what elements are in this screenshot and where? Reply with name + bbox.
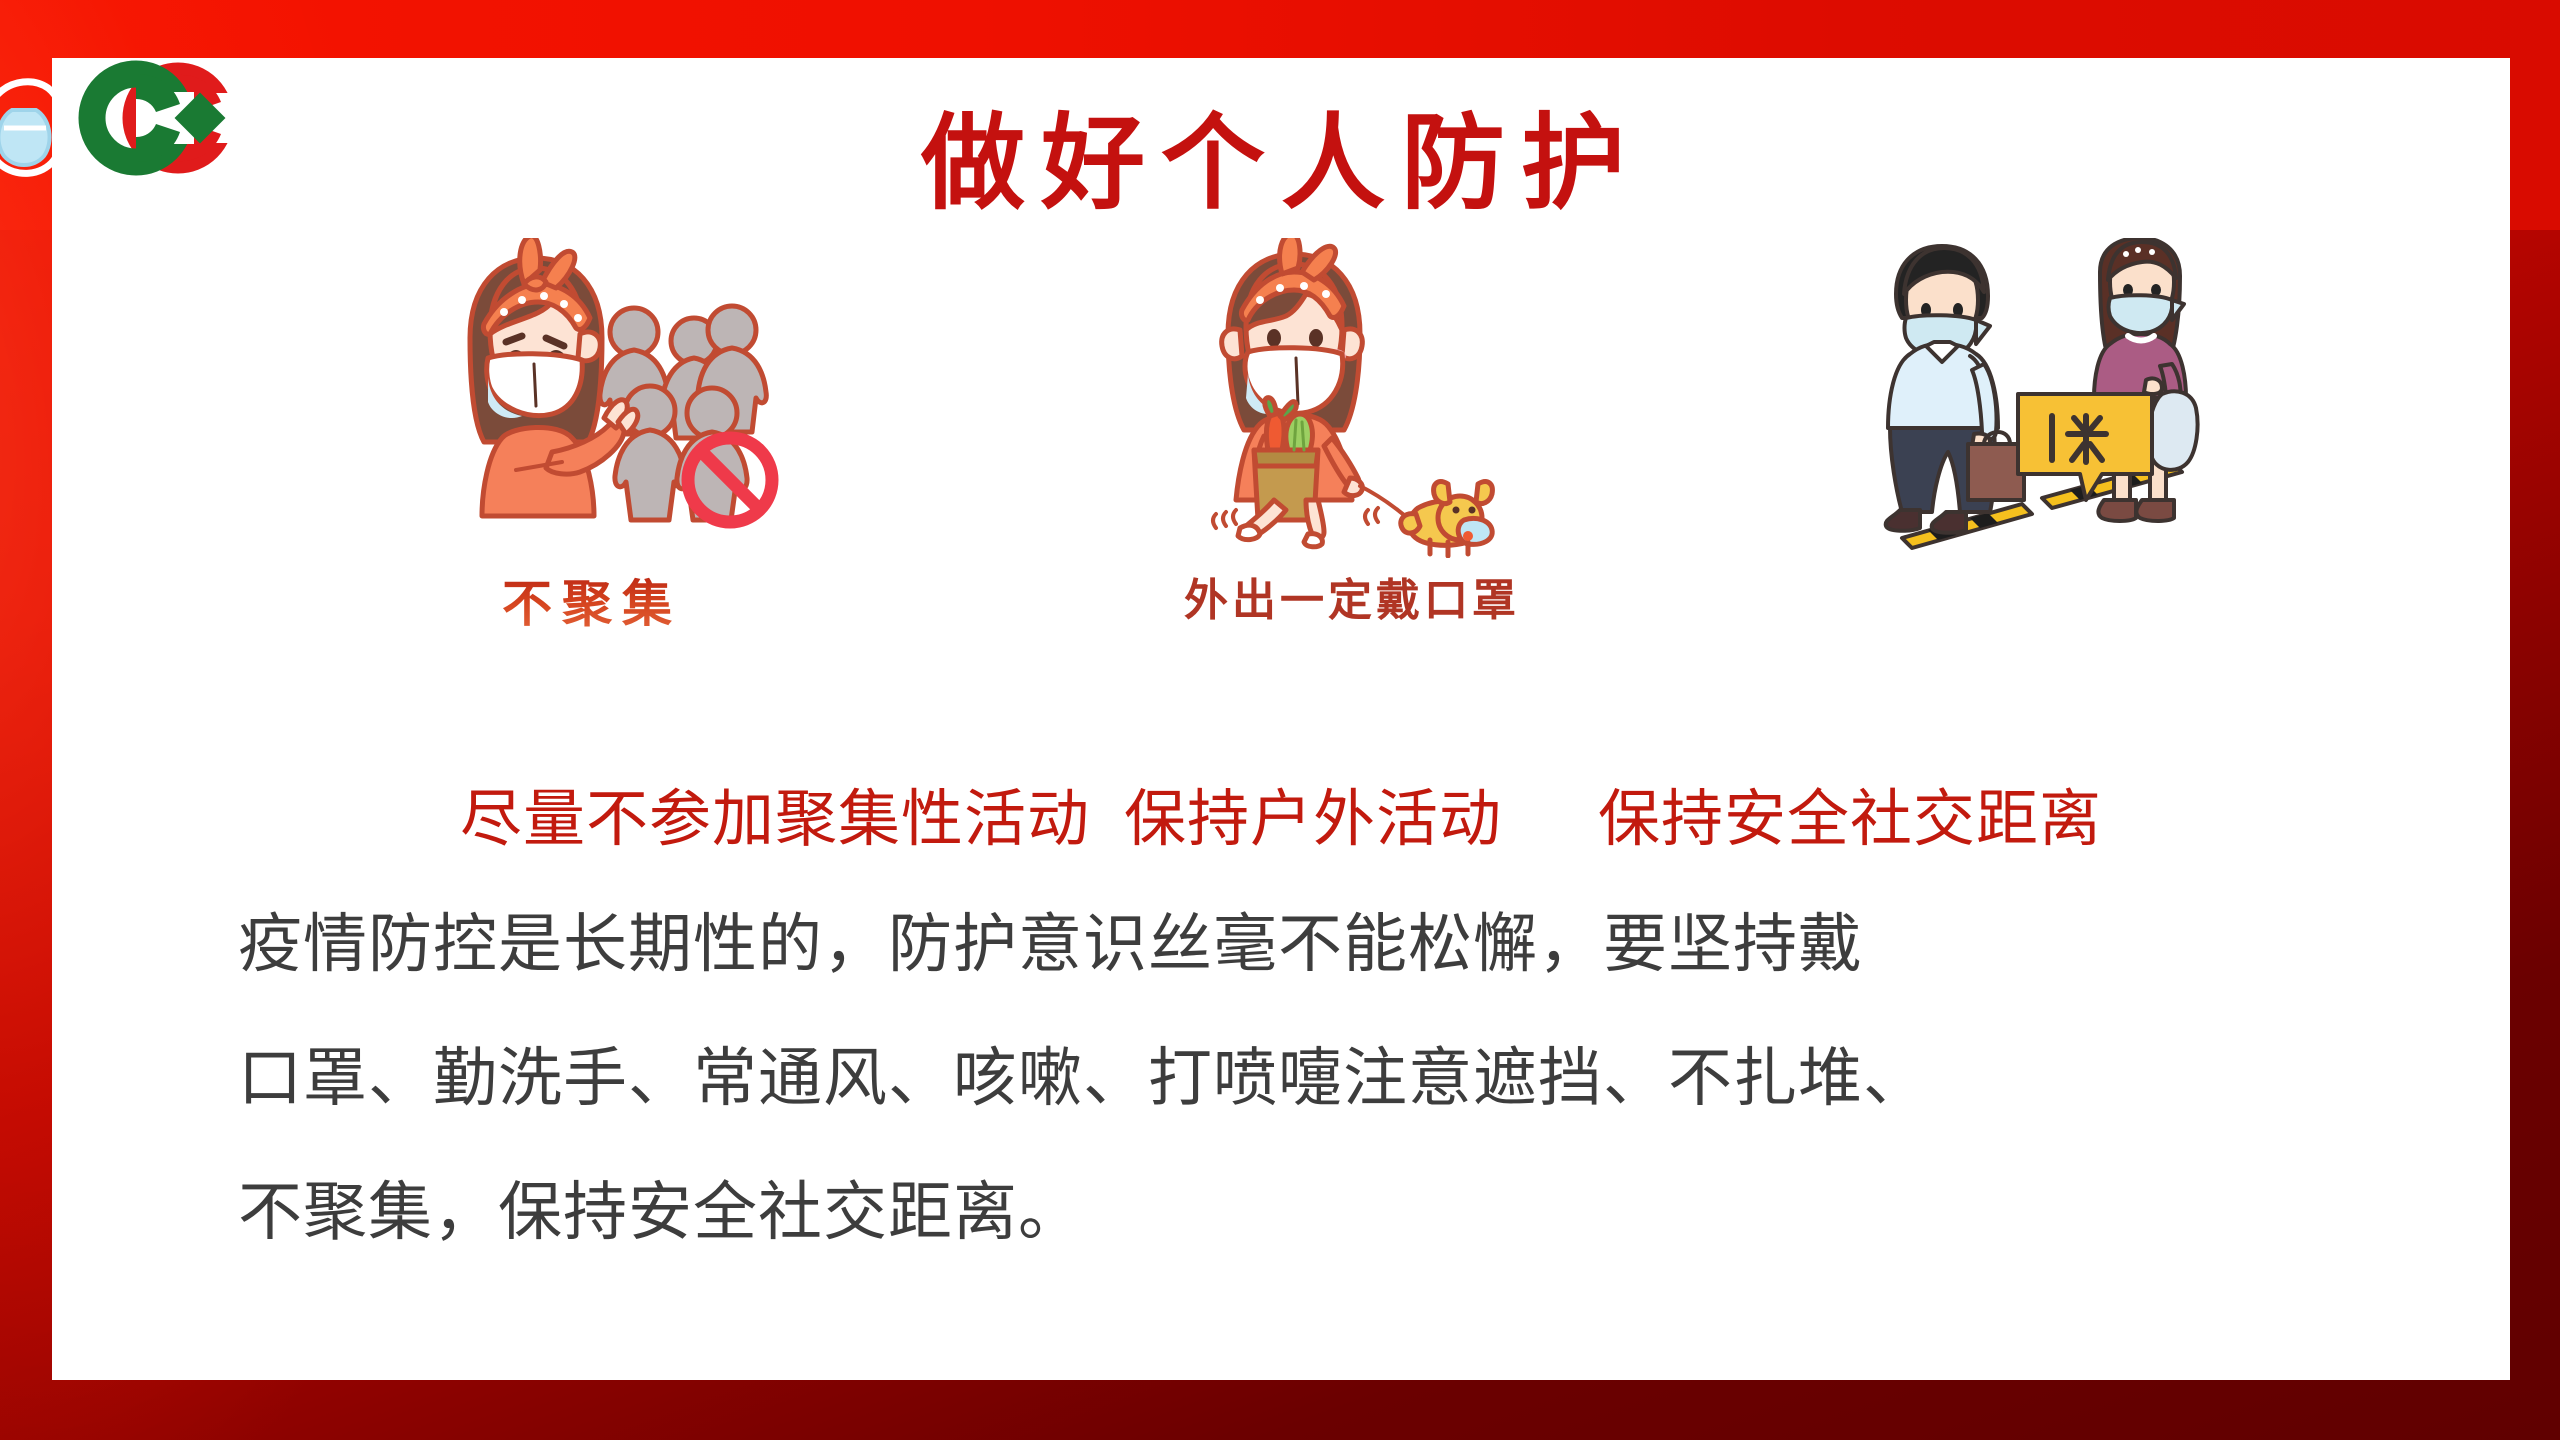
subtitle-part-3: 保持安全社交距离 [1598, 782, 2102, 855]
illustration-caption-no-gathering: 不聚集 [412, 564, 772, 636]
slide-canvas: 做好个人防护 [0, 0, 2560, 1440]
page-title: 做好个人防护 [52, 106, 2510, 220]
content-card: 做好个人防护 [52, 58, 2510, 1380]
illustration-caption-wear-mask: 外出一定戴口罩 [1182, 564, 1522, 628]
body-paragraph: 疫情防控是长期性的，防护意识丝毫不能松懈，要坚持戴 口罩、勤洗手、常通风、咳嗽、… [238, 878, 2348, 1280]
illustration-social-distance [1842, 238, 2262, 568]
body-line-1: 疫情防控是长期性的，防护意识丝毫不能松懈，要坚持戴 [238, 878, 2348, 1012]
body-line-3: 不聚集，保持安全社交距离。 [238, 1146, 2348, 1280]
illustration-no-gathering: 不聚集 [412, 238, 772, 558]
subtitle-part-1: 尽量不参加聚集性活动 [460, 782, 1090, 855]
illustration-wear-mask: 外出一定戴口罩 [1182, 238, 1522, 558]
subtitle-part-2: 保持户外活动 [1124, 782, 1502, 855]
subtitle-row: 尽量不参加聚集性活动保持户外活动保持安全社交距离 [52, 768, 2510, 858]
illustration-row: 不聚集 [182, 238, 2382, 568]
body-line-2: 口罩、勤洗手、常通风、咳嗽、打喷嚏注意遮挡、不扎堆、 [238, 1012, 2348, 1146]
